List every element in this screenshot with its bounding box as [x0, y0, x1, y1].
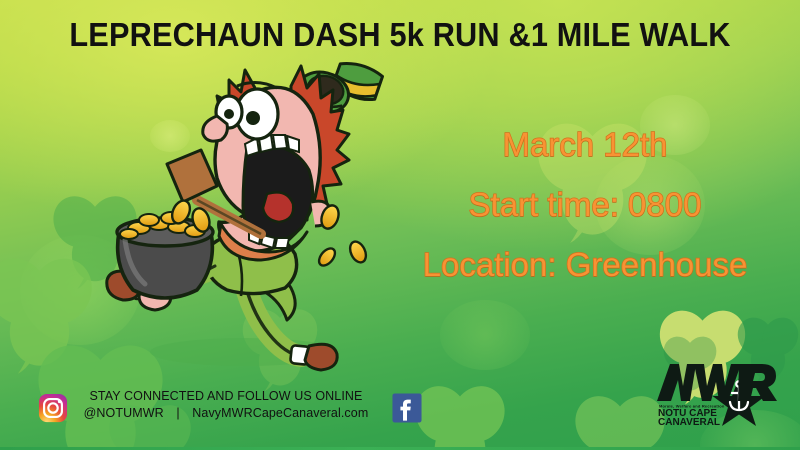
mwr-logo: Morale, Welfare and Recreation NOTU CAPE… [655, 358, 780, 426]
shamrock-icon [0, 243, 107, 383]
instagram-icon[interactable] [38, 393, 68, 423]
running-leprechaun-illustration [105, 52, 405, 382]
footer-social-text: STAY CONNECTED AND FOLLOW US ONLINE @NOT… [66, 388, 386, 422]
event-details: March 12th Start time: 0800 Location: Gr… [385, 126, 785, 306]
footer-handles: @NOTUMWR | NavyMWRCapeCanaveral.com [66, 405, 386, 422]
light-blob [440, 300, 530, 370]
event-start-time: Start time: 0800 [385, 186, 785, 224]
event-flyer: LEPRECHAUN DASH 5k RUN &1 MILE WALK [0, 0, 800, 450]
footer-tagline: STAY CONNECTED AND FOLLOW US ONLINE [66, 388, 386, 405]
mwr-location-line2: CANAVERAL [658, 417, 720, 426]
mwr-wordmark [657, 364, 777, 401]
page-title: LEPRECHAUN DASH 5k RUN &1 MILE WALK [28, 16, 772, 54]
instagram-handle: @NOTUMWR [84, 406, 164, 420]
footer-separator: | [167, 406, 188, 420]
facebook-icon[interactable] [392, 393, 422, 423]
event-location: Location: Greenhouse [385, 246, 785, 284]
website-url: NavyMWRCapeCanaveral.com [192, 406, 368, 420]
event-date: March 12th [385, 126, 785, 164]
